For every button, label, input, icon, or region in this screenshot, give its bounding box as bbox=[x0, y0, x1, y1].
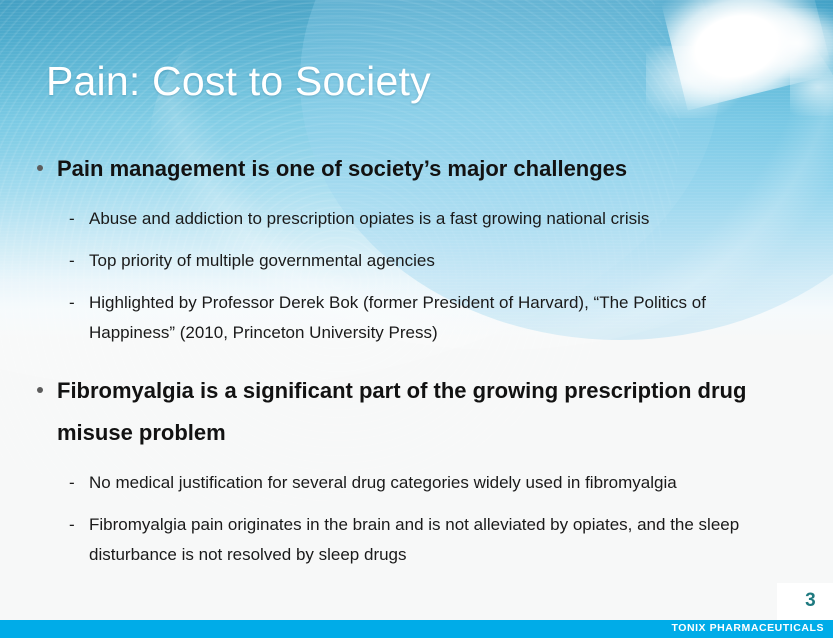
bullet-level1-text: Pain management is one of society’s majo… bbox=[57, 156, 627, 181]
bullet-dot-icon bbox=[37, 165, 43, 171]
bullet-level2: - Highlighted by Professor Derek Bok (fo… bbox=[0, 288, 833, 348]
bullet-level2-text: Abuse and addiction to prescription opia… bbox=[89, 209, 649, 228]
slide-title: Pain: Cost to Society bbox=[46, 57, 431, 105]
bullet-level2: - Top priority of multiple governmental … bbox=[0, 246, 833, 276]
bullet-level2-text: Fibromyalgia pain originates in the brai… bbox=[89, 515, 739, 564]
bullet-level2: - Abuse and addiction to prescription op… bbox=[0, 204, 833, 234]
bullet-dot-icon bbox=[37, 387, 43, 393]
slide-body: Pain management is one of society’s majo… bbox=[0, 148, 833, 570]
footer-company-name: TONIX PHARMACEUTICALS bbox=[671, 622, 824, 634]
bullet-dash-icon: - bbox=[69, 468, 75, 498]
bullet-dash-icon: - bbox=[69, 288, 75, 318]
bullet-level2: - Fibromyalgia pain originates in the br… bbox=[0, 510, 833, 570]
bullet-dash-icon: - bbox=[69, 204, 75, 234]
bullet-level1: Fibromyalgia is a significant part of th… bbox=[0, 370, 833, 454]
page-number: 3 bbox=[805, 590, 816, 612]
bullet-level1: Pain management is one of society’s majo… bbox=[0, 148, 833, 190]
bullet-level1-text: Fibromyalgia is a significant part of th… bbox=[57, 378, 746, 445]
bullet-dash-icon: - bbox=[69, 246, 75, 276]
bullet-level2-text: No medical justification for several dru… bbox=[89, 473, 677, 492]
bullet-level2-text: Top priority of multiple governmental ag… bbox=[89, 251, 435, 270]
bullet-level2-text: Highlighted by Professor Derek Bok (form… bbox=[89, 293, 706, 342]
bullet-dash-icon: - bbox=[69, 510, 75, 540]
bullet-level2: - No medical justification for several d… bbox=[0, 468, 833, 498]
presentation-slide: Pain: Cost to Society Pain management is… bbox=[0, 0, 833, 638]
